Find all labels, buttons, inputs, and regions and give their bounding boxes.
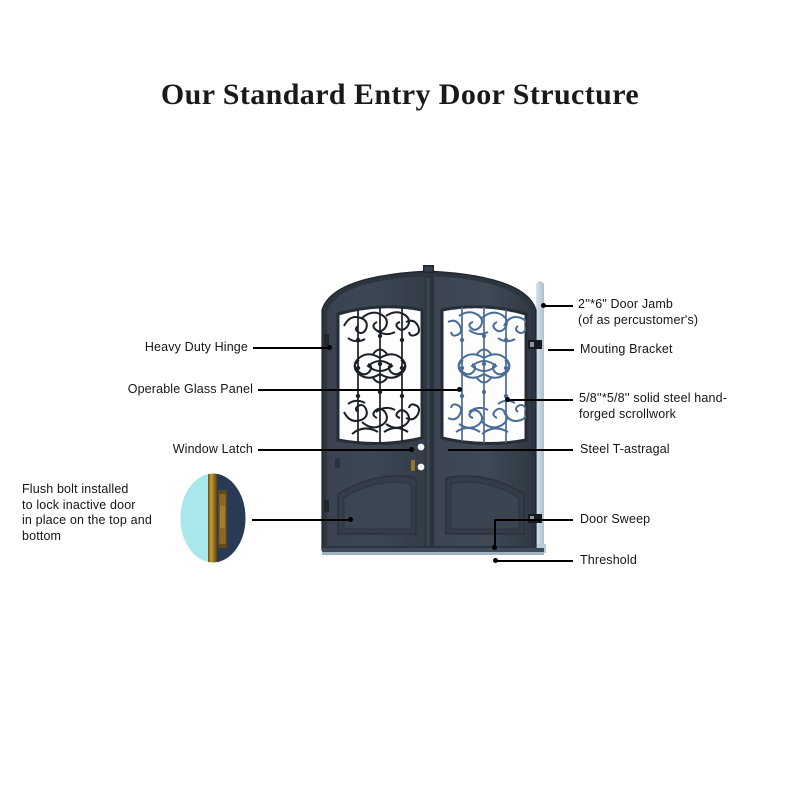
inset-sky-background	[178, 472, 213, 564]
leader-flush-bolt	[252, 519, 352, 521]
leader-dot-door-jamb	[541, 303, 546, 308]
page-title: Our Standard Entry Door Structure	[0, 78, 800, 112]
leader-door-jamb	[545, 305, 573, 307]
label-heavy-duty-hinge: Heavy Duty Hinge	[60, 340, 248, 356]
label-door-sweep: Door Sweep	[580, 512, 780, 528]
leader-dot-door-sweep	[492, 545, 497, 550]
left-door-leaf	[327, 276, 426, 546]
leader-dot-flush-bolt	[348, 517, 353, 522]
leader-door-sweep-vertical	[494, 519, 496, 548]
label-scrollwork: 5/8''*5/8'' solid steel hand- forged scr…	[579, 391, 789, 422]
leader-door-sweep-horizontal	[494, 519, 573, 521]
label-threshold: Threshold	[580, 553, 780, 569]
label-operable-glass-panel: Operable Glass Panel	[60, 382, 253, 398]
leader-dot-heavy-duty-hinge	[327, 345, 332, 350]
flush-bolt-detail-inset	[178, 472, 248, 564]
leader-dot-threshold	[493, 558, 498, 563]
leader-heavy-duty-hinge	[253, 347, 331, 349]
leader-window-latch	[258, 449, 413, 451]
label-flush-bolt: Flush bolt installed to lock inactive do…	[22, 482, 182, 544]
window-latch-hardware	[335, 458, 340, 468]
center-t-astragal	[425, 276, 434, 548]
door-jamb-edge	[536, 281, 546, 553]
leader-dot-window-latch	[409, 447, 414, 452]
inset-gold-edge	[208, 472, 217, 564]
leader-operable-glass-panel	[258, 389, 461, 391]
apex-bracket	[423, 265, 434, 273]
label-mouting-bracket: Mouting Bracket	[580, 342, 780, 358]
latch-keeper	[411, 460, 415, 471]
label-steel-t-astragal: Steel T-astragal	[580, 442, 780, 458]
leader-mouting-bracket	[548, 349, 574, 351]
leader-steel-t-astragal	[448, 449, 573, 451]
upper-knob	[418, 444, 425, 451]
lower-knob	[418, 464, 425, 471]
label-door-jamb: 2''*6" Door Jamb (of as percustomer's)	[578, 297, 778, 328]
leader-dot-scrollwork	[505, 397, 510, 402]
label-window-latch: Window Latch	[60, 442, 253, 458]
threshold-bar	[322, 548, 544, 555]
leader-dot-operable-glass-panel	[457, 387, 462, 392]
diagram-canvas: Our Standard Entry Door Structure	[0, 0, 800, 800]
right-door-leaf	[432, 276, 531, 546]
leader-threshold	[496, 560, 573, 562]
leader-scrollwork	[509, 399, 573, 401]
